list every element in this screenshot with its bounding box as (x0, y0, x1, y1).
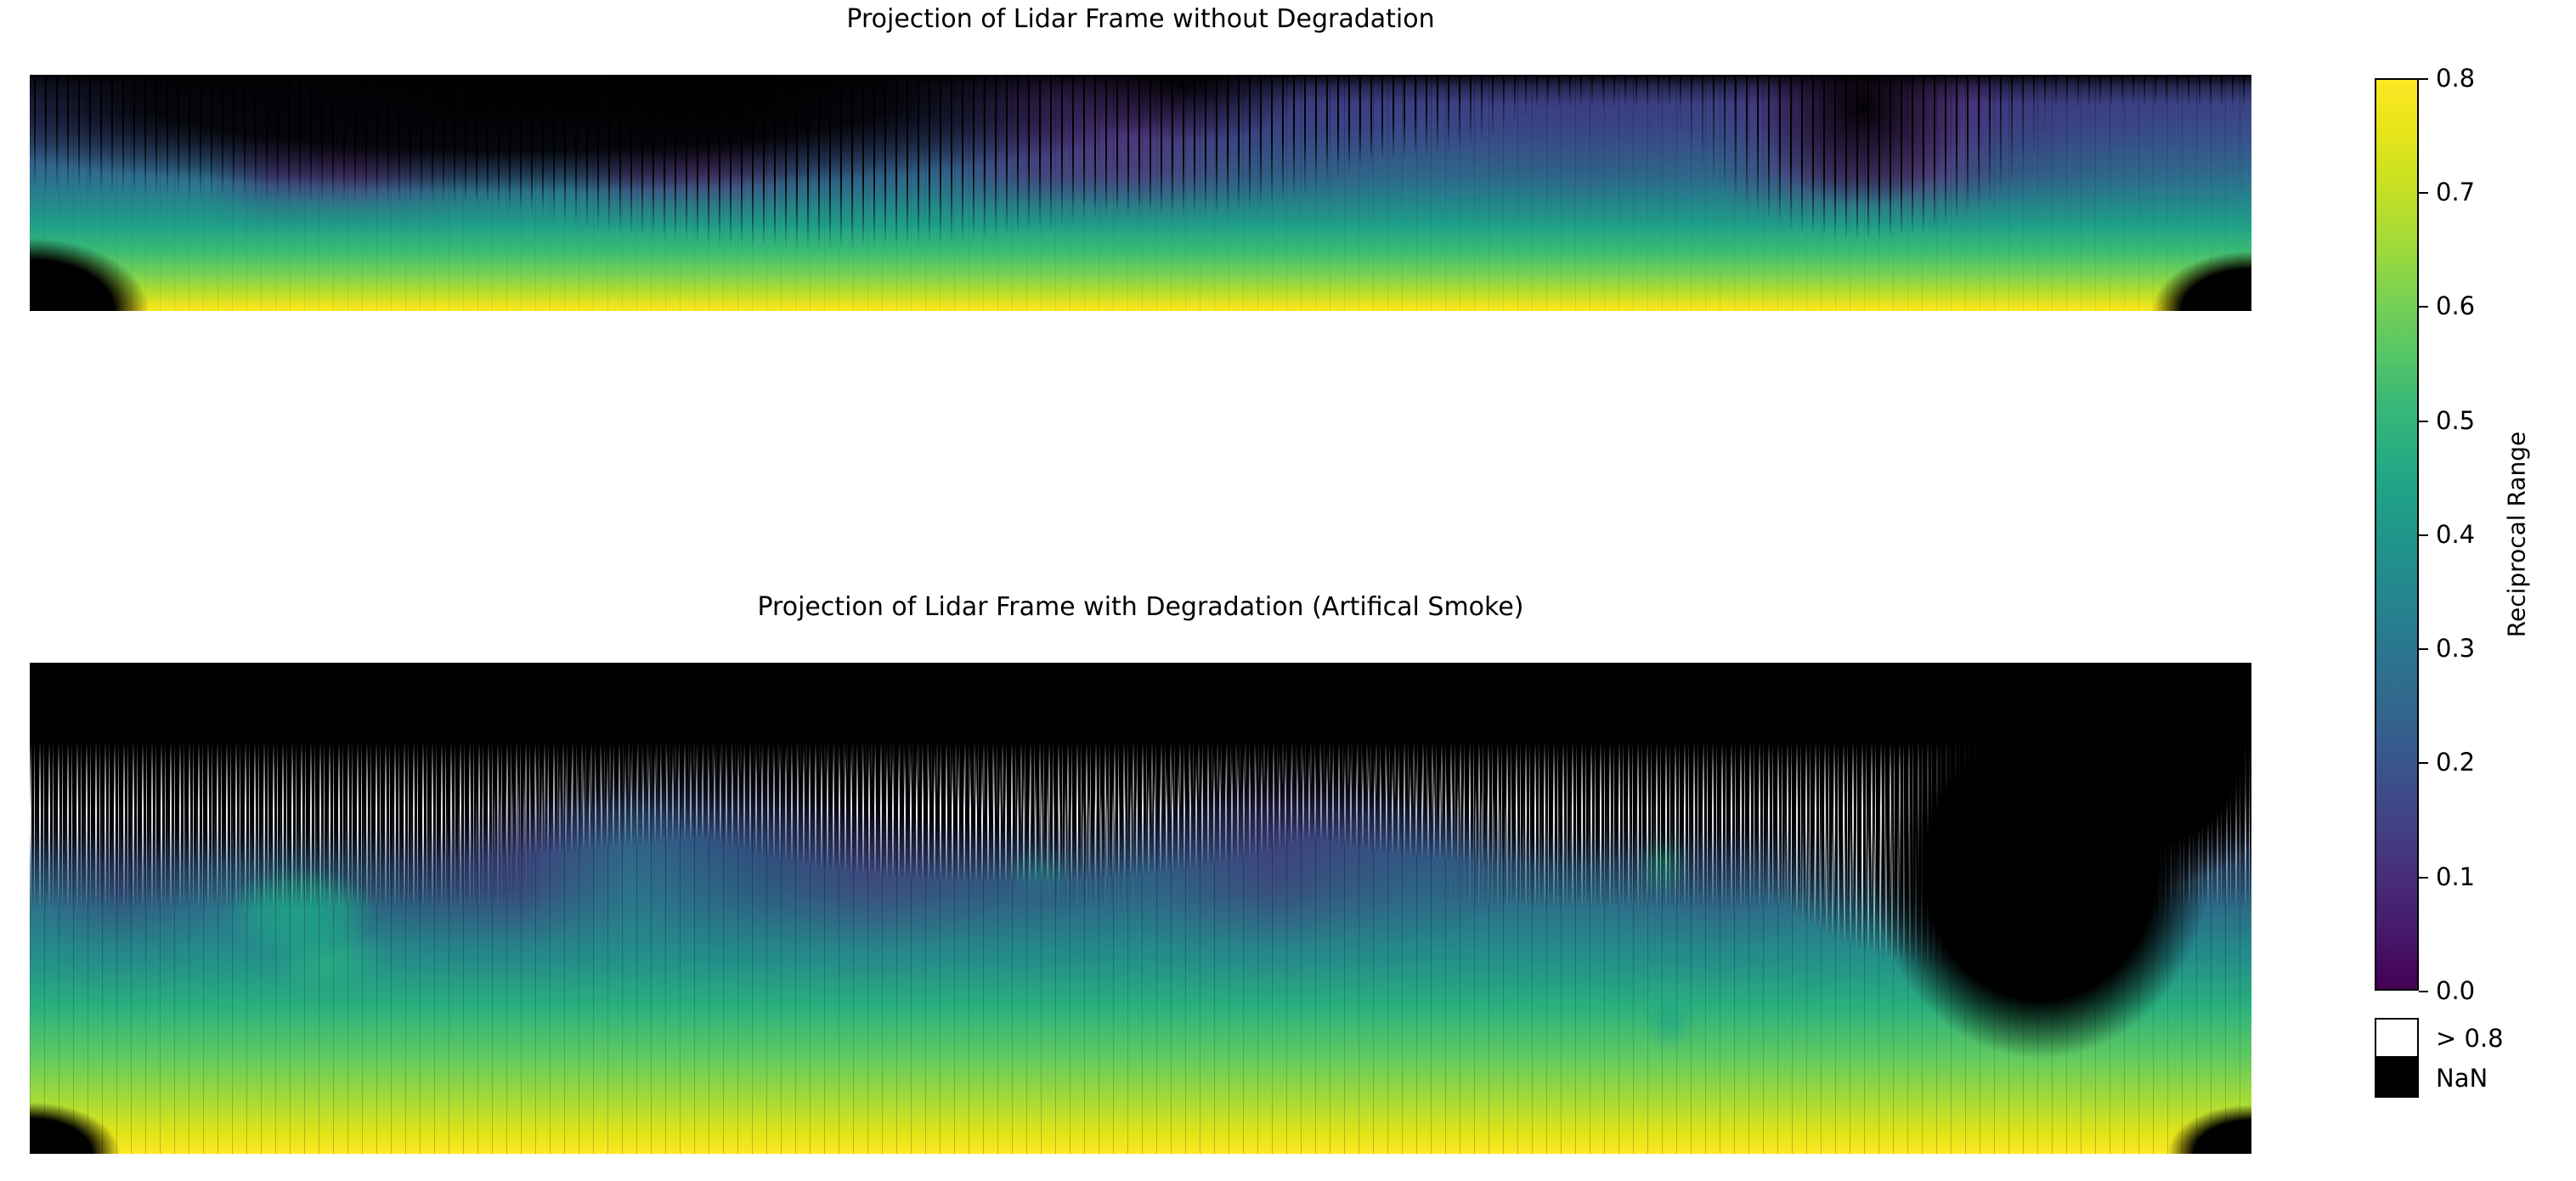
colorbar-tick (2419, 648, 2428, 650)
colorbar-tick-label: 0.1 (2436, 862, 2475, 891)
legend-label: > 0.8 (2436, 1024, 2504, 1053)
legend-item-nan: NaN (2375, 1058, 2570, 1098)
special-values-legend: > 0.8 NaN (2375, 1018, 2570, 1098)
colorbar-tick (2419, 991, 2428, 992)
panel-title-without-degradation: Projection of Lidar Frame without Degrad… (0, 5, 2281, 34)
colorbar-tick-label: 0.3 (2436, 634, 2475, 663)
colorbar-gradient (2375, 78, 2419, 991)
colorbar-tick-label: 0.7 (2436, 178, 2475, 206)
colorbar-tick-label: 0.4 (2436, 520, 2475, 549)
colorbar-tick (2419, 762, 2428, 764)
colorbar-tick (2419, 78, 2428, 80)
nan-regions-layer (30, 663, 2251, 1154)
lidar-projection-panel-with-degradation (30, 663, 2251, 1154)
lidar-projection-figure: Projection of Lidar Frame without Degrad… (0, 0, 2576, 1181)
lidar-projection-panel-without-degradation (30, 75, 2251, 311)
legend-item-over-range: > 0.8 (2375, 1018, 2570, 1058)
colorbar-tick-label: 0.0 (2436, 976, 2475, 1005)
nan-ground-corner-layer (30, 75, 2251, 311)
colorbar-axis-label: Reciprocal Range (2503, 432, 2531, 637)
colorbar-tick (2419, 421, 2428, 422)
colorbar-tick (2419, 306, 2428, 308)
colorbar-tick-label: 0.8 (2436, 64, 2475, 93)
panel-title-with-degradation: Projection of Lidar Frame with Degradati… (0, 593, 2281, 622)
colorbar-tick-label: 0.2 (2436, 748, 2475, 777)
colorbar-tick (2419, 877, 2428, 879)
over-range-swatch (2375, 1018, 2419, 1058)
legend-label: NaN (2436, 1064, 2488, 1093)
colorbar: 0.8 0.7 0.6 0.5 0.4 0.3 0.2 0.1 0.0 (2375, 78, 2419, 991)
colorbar-tick (2419, 192, 2428, 194)
colorbar-tick (2419, 534, 2428, 536)
colorbar-tick-label: 0.5 (2436, 406, 2475, 435)
nan-swatch (2375, 1058, 2419, 1098)
colorbar-tick-label: 0.6 (2436, 291, 2475, 320)
